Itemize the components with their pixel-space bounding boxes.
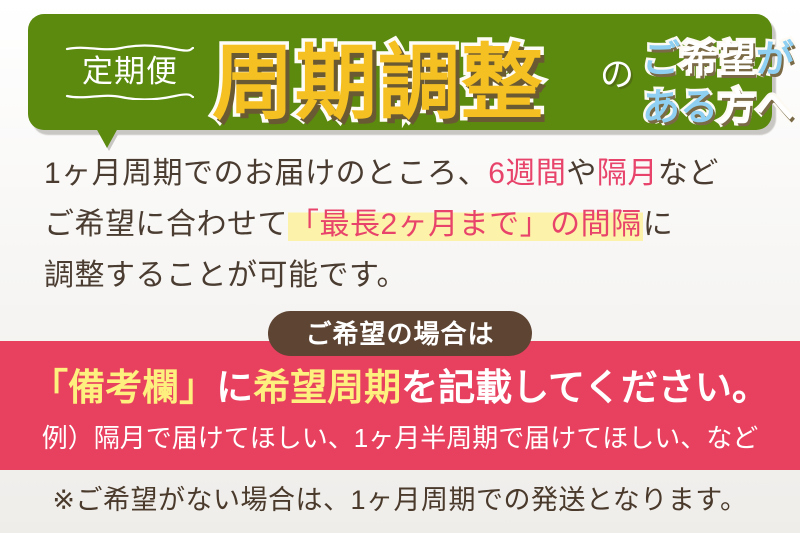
- header-particle: の: [600, 58, 634, 92]
- subscription-label-group: 定期便: [62, 33, 198, 111]
- description-line-2: ご希望に合わせて「最長2ヶ月まで」の間隔に: [44, 199, 764, 250]
- subscription-label: 定期便: [82, 56, 178, 87]
- wish-line2-prefix: ある: [642, 87, 718, 129]
- instruction-headline: 「備考欄」に希望周期を記載してください。: [0, 365, 800, 411]
- request-case-badge-label: ご希望の場合は: [305, 321, 494, 347]
- header-main-title: 周期調整: [212, 26, 544, 142]
- instruction-seg-tail: を記載してください。: [401, 367, 769, 408]
- wavy-rule-icon-bottom: [65, 92, 195, 100]
- speech-bubble-tail-icon: [96, 128, 118, 148]
- wish-line1-prefix: ご: [642, 39, 680, 81]
- instruction-seg-ni: に: [216, 367, 253, 408]
- default-shipping-note: ※ご希望がない場合は、1ヶ月周期での発送となります。: [0, 480, 800, 520]
- desc-l1-seg-c: など: [658, 157, 719, 190]
- promo-banner: 定期便 周期調整 の ご希望が ある方へ 1ヶ月周期でのお届けのところ、6週間や…: [0, 0, 800, 533]
- header-speech-bubble: 定期便 周期調整 の ご希望が ある方へ: [28, 14, 772, 130]
- wish-line-1: ご希望が: [642, 36, 800, 84]
- description-paragraph: 1ヶ月周期でのお届けのところ、6週間や隔月など ご希望に合わせて「最長2ヶ月まで…: [44, 148, 764, 301]
- wish-line2-kanji: 方へ: [718, 87, 794, 129]
- description-line-1: 1ヶ月周期でのお届けのところ、6週間や隔月など: [44, 148, 764, 199]
- desc-l1-seg-a: 1ヶ月周期でのお届けのところ、: [44, 157, 488, 190]
- wish-line1-kanji: 希望: [680, 39, 756, 81]
- instruction-remarks-field: 「備考欄」: [31, 367, 216, 408]
- desc-l2-seg-a: ご希望に合わせて: [44, 208, 288, 241]
- desc-l2-highlight-max2months: 「最長2ヶ月まで」の間隔: [288, 208, 643, 241]
- desc-l1-highlight-6weeks: 6週間: [488, 157, 566, 190]
- instruction-band: 「備考欄」に希望周期を記載してください。 例）隔月で届けてほしい、1ヶ月半周期で…: [0, 341, 800, 470]
- instruction-examples: 例）隔月で届けてほしい、1ヶ月半周期で届けてほしい、など: [0, 421, 800, 455]
- desc-l2-seg-b: に: [643, 208, 674, 241]
- desc-l1-highlight-bimonthly: 隔月: [597, 157, 658, 190]
- wish-line-2: ある方へ: [642, 84, 800, 132]
- wavy-rule-icon-top: [65, 44, 195, 52]
- request-case-badge: ご希望の場合は: [268, 311, 532, 356]
- instruction-desired-cycle: 希望周期: [253, 367, 401, 408]
- description-line-3: 調整することが可能です。: [44, 250, 764, 301]
- wish-line1-suffix: が: [756, 39, 794, 81]
- desc-l1-seg-b: や: [566, 157, 597, 190]
- header-wish-text: ご希望が ある方へ: [642, 36, 800, 132]
